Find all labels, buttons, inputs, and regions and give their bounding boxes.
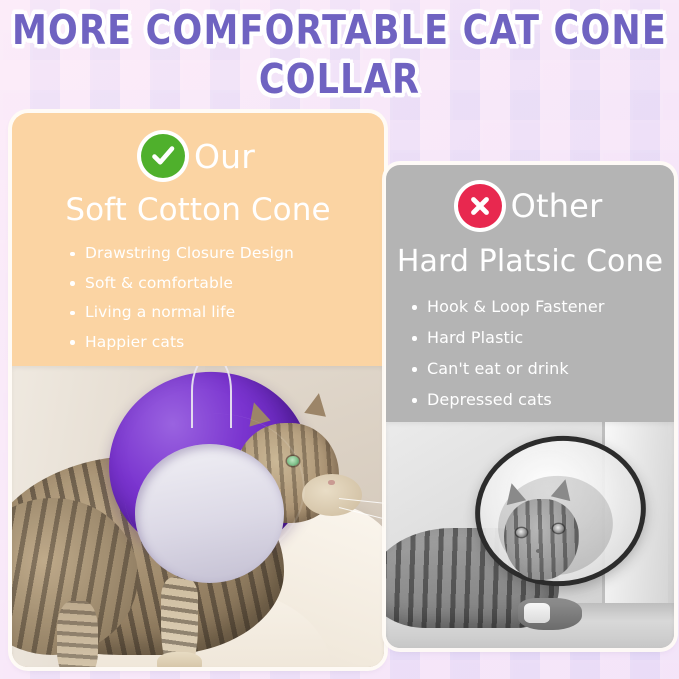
list-item: Living a normal life bbox=[70, 305, 384, 321]
list-item: Drawstring Closure Design bbox=[70, 246, 384, 262]
panel-other-product: Other Hard Platsic Cone Hook & Loop Fast… bbox=[386, 165, 674, 648]
red-x-circle-icon bbox=[458, 184, 502, 228]
drawstring-loop bbox=[191, 366, 232, 428]
our-head-word: Our bbox=[194, 140, 255, 173]
cat-eye bbox=[516, 528, 527, 537]
our-subheading: Soft Cotton Cone bbox=[12, 195, 384, 226]
panel-our-product: Our Soft Cotton Cone Drawstring Closure … bbox=[12, 113, 384, 667]
cat-eye bbox=[553, 524, 564, 533]
other-feature-list: Hook & Loop Fastener Hard Plastic Can't … bbox=[412, 299, 674, 408]
other-head-word: Other bbox=[511, 190, 603, 222]
cat-nose bbox=[536, 549, 542, 553]
our-product-photo bbox=[12, 366, 384, 667]
our-header-row: Our bbox=[12, 113, 384, 193]
list-item: Hook & Loop Fastener bbox=[412, 299, 674, 315]
list-item: Depressed cats bbox=[412, 392, 674, 408]
green-check-circle-icon bbox=[141, 134, 185, 178]
cat-ear-right bbox=[304, 391, 329, 416]
list-item: Hard Plastic bbox=[412, 330, 674, 346]
page-title: MORE COMFORTABLE CAT CONE COLLAR bbox=[0, 8, 679, 98]
title-line-2: COLLAR bbox=[0, 57, 679, 104]
list-item: Can't eat or drink bbox=[412, 361, 674, 377]
cat-head bbox=[504, 499, 579, 580]
cat-bandage bbox=[524, 603, 550, 623]
other-subheading: Hard Platsic Cone bbox=[386, 247, 674, 277]
list-item: Soft & comfortable bbox=[70, 276, 384, 292]
cat-hind-leg bbox=[57, 601, 98, 667]
cat-paw bbox=[157, 652, 202, 667]
list-item: Happier cats bbox=[70, 335, 384, 351]
our-feature-list: Drawstring Closure Design Soft & comfort… bbox=[70, 246, 384, 350]
other-product-photo bbox=[386, 422, 674, 648]
collar-inner-white-band bbox=[135, 444, 284, 582]
title-line-1: MORE COMFORTABLE CAT CONE bbox=[0, 8, 679, 55]
other-header-row: Other bbox=[386, 165, 674, 243]
